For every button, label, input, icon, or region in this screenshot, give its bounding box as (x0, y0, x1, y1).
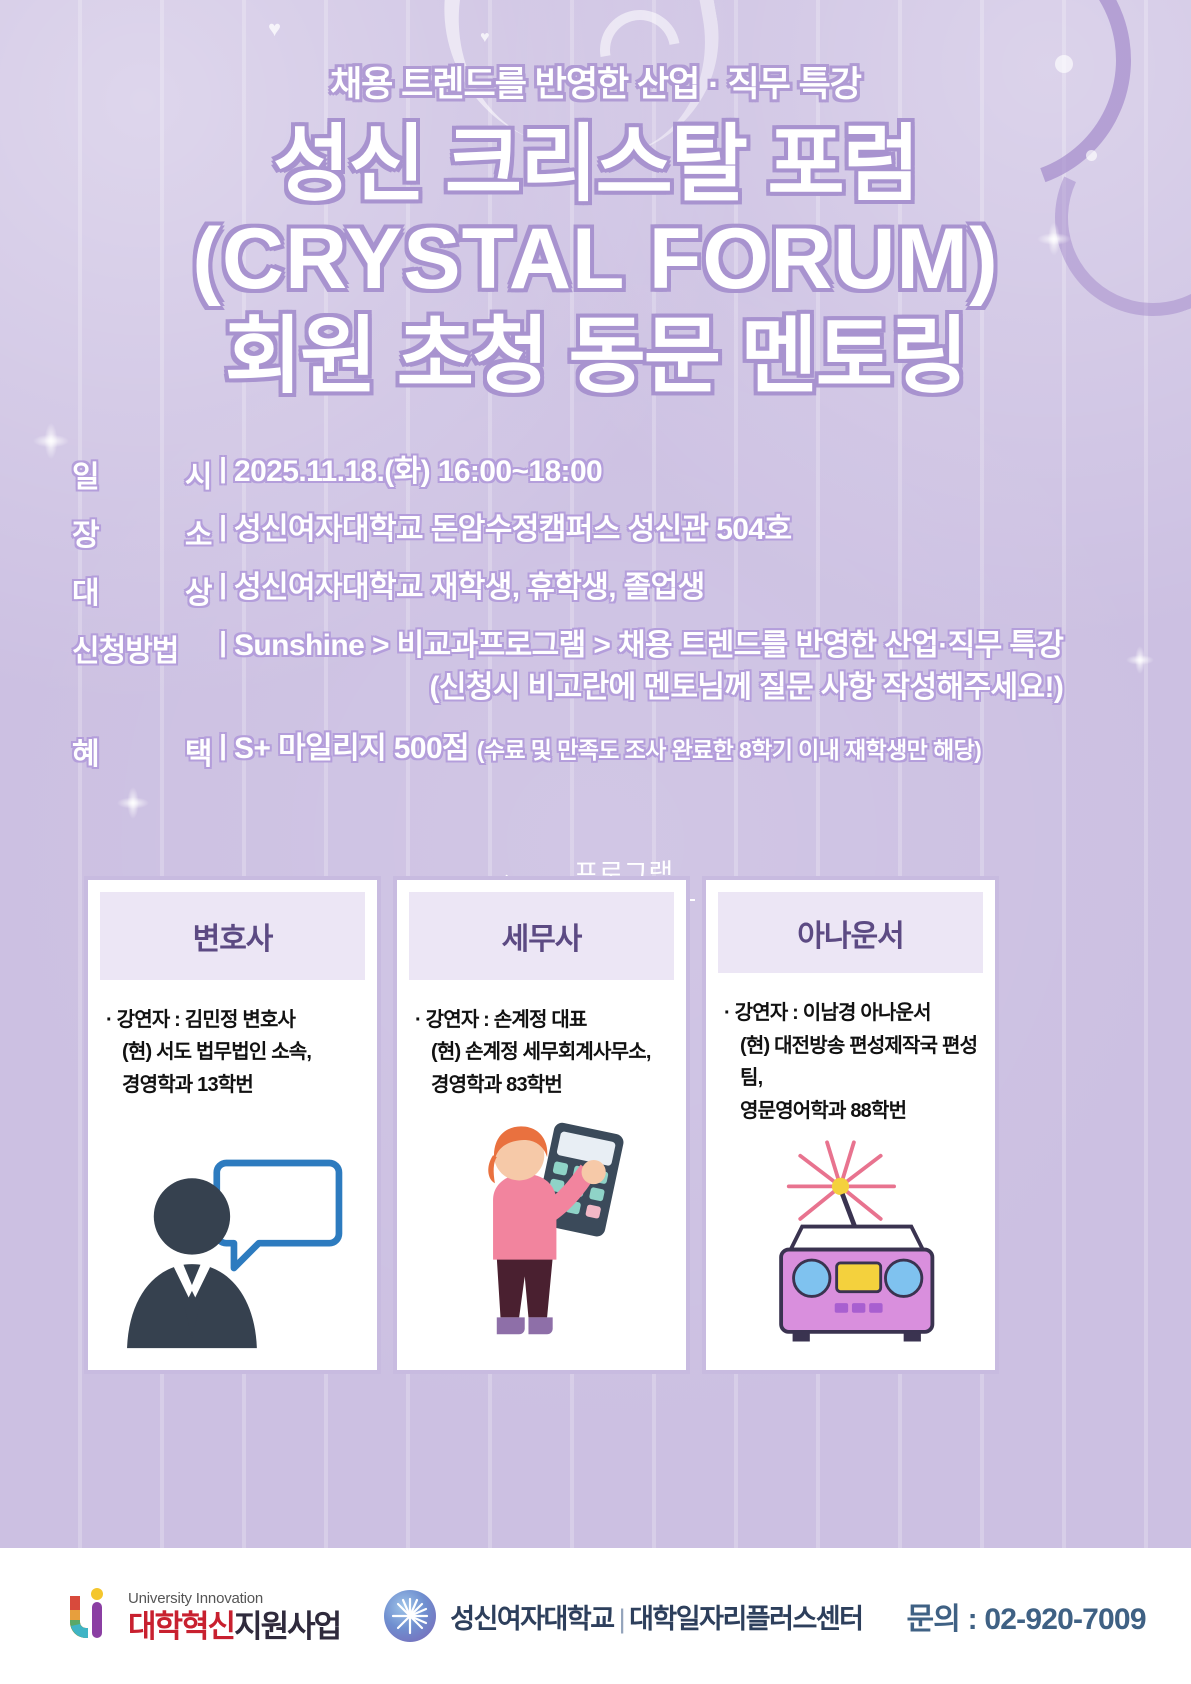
apply-note-text: (신청시 비고란에 멘토님께 질문 사항 작성해주세요!) (234, 668, 1063, 708)
card-affiliation-line-2: (현) 손계정 세무회계사무소, (415, 1036, 670, 1068)
card-body-lawyer: · 강연자 : 김민정 변호사 (현) 서도 법무법인 소속, 경영학과 13학… (98, 982, 367, 1101)
ui-logo-english: University Innovation (128, 1591, 340, 1606)
info-row-benefit: 혜 택 | S+ 마일리지 500점 (수료 및 만족도 조사 완료한 8학기 … (72, 729, 1131, 773)
poster-title-line3: 회원 초청 동문 멘토링 (0, 314, 1191, 398)
poster-subtitle: 채용 트렌드를 반영한 산업 · 직무 특강 (0, 56, 1191, 107)
apply-path-text: Sunshine > 비교과프로그램 > 채용 트렌드를 반영한 산업·직무 특… (234, 629, 1063, 662)
info-value-datetime: 2025.11.18.(화) 16:00~18:00 (234, 452, 602, 492)
card-title-lawyer: 변호사 (98, 890, 367, 982)
center-name: 대학일자리플러스센터 (629, 1604, 862, 1634)
info-value-audience: 성신여자대학교 재학생, 휴학생, 졸업생 (234, 568, 705, 608)
info-row-howtoapply: 신청방법 | Sunshine > 비교과프로그램 > 채용 트렌드를 반영한 … (72, 626, 1131, 707)
info-label-benefit: 혜 택 (72, 729, 212, 773)
card-speaker-line-3: · 강연자 : 이남경 아나운서 (724, 997, 979, 1029)
card-title-tax-accountant: 세무사 (407, 890, 676, 982)
info-label-venue: 장 소 (72, 510, 212, 554)
program-card-announcer[interactable]: 아나운서 · 강연자 : 이남경 아나운서 (현) 대전방송 편성제작국 편성팀… (702, 876, 999, 1374)
radio-broadcast-illustration (716, 1127, 985, 1358)
ui-logo-korean: 대학혁신지원사업 (128, 1611, 340, 1642)
footer-bar: University Innovation 대학혁신지원사업 (0, 1548, 1191, 1684)
info-value-venue: 성신여자대학교 돈암수정캠퍼스 성신관 504호 (234, 510, 791, 550)
info-separator-3: | (212, 568, 234, 600)
ui-logo-korean-red: 대학혁신 (128, 1609, 234, 1644)
woman-with-calculator-illustration (407, 1101, 676, 1358)
program-card-lawyer[interactable]: 변호사 · 강연자 : 김민정 변호사 (현) 서도 법무법인 소속, 경영학과… (84, 876, 381, 1374)
name-divider: | (614, 1604, 630, 1634)
card-major-line-2: 경영학과 83학번 (415, 1069, 670, 1101)
program-cards: 변호사 · 강연자 : 김민정 변호사 (현) 서도 법무법인 소속, 경영학과… (84, 876, 999, 1374)
info-value-benefit: S+ 마일리지 500점 (수료 및 만족도 조사 완료한 8학기 이내 재학생… (234, 729, 981, 769)
poster-canvas: ♥ ♥ ♥ 채용 트렌드를 반영한 산업 · 직무 특강 성신 크리스탈 포럼 … (0, 0, 1191, 1684)
card-major-line-3: 영문영어학과 88학번 (724, 1095, 979, 1127)
sparkle-icon-2 (25, 415, 77, 467)
card-affiliation-line: (현) 서도 법무법인 소속, (106, 1036, 361, 1068)
crystal-emblem-icon (384, 1590, 436, 1642)
info-separator: | (212, 452, 234, 484)
info-label-audience: 대 상 (72, 568, 212, 612)
businessman-speech-bubble-illustration (98, 1101, 367, 1358)
card-body-announcer: · 강연자 : 이남경 아나운서 (현) 대전방송 편성제작국 편성팀, 영문영… (716, 975, 985, 1127)
card-speaker-line-2: · 강연자 : 손계정 대표 (415, 1004, 670, 1036)
sungshin-university-logo: 성신여자대학교|대학일자리플러스센터 (384, 1590, 862, 1642)
card-major-line: 경영학과 13학번 (106, 1069, 361, 1101)
university-center-name: 성신여자대학교|대학일자리플러스센터 (450, 1597, 862, 1636)
poster-title-line2: (CRYSTAL FORUM) (0, 216, 1191, 302)
info-label-howtoapply: 신청방법 (72, 626, 212, 670)
heart-icon-2: ♥ (480, 30, 490, 46)
university-innovation-logo: University Innovation 대학혁신지원사업 (62, 1588, 340, 1644)
card-body-tax-accountant: · 강연자 : 손계정 대표 (현) 손계정 세무회계사무소, 경영학과 83학… (407, 982, 676, 1101)
info-row-datetime: 일 시 | 2025.11.18.(화) 16:00~18:00 (72, 452, 1131, 496)
u-mark-icon (62, 1588, 118, 1644)
info-row-audience: 대 상 | 성신여자대학교 재학생, 휴학생, 졸업생 (72, 568, 1131, 612)
ui-logo-korean-dark: 지원사업 (234, 1609, 340, 1644)
card-affiliation-line-3: (현) 대전방송 편성제작국 편성팀, (724, 1030, 979, 1095)
info-separator-4: | (212, 626, 234, 658)
benefit-condition-text: (수료 및 만족도 조사 완료한 8학기 이내 재학생만 해당) (477, 737, 981, 763)
info-separator-2: | (212, 510, 234, 542)
program-card-tax-accountant[interactable]: 세무사 · 강연자 : 손계정 대표 (현) 손계정 세무회계사무소, 경영학과… (393, 876, 690, 1374)
card-speaker-line: · 강연자 : 김민정 변호사 (106, 1004, 361, 1036)
contact-phone: 문의 : 02-920-7009 (907, 1594, 1146, 1638)
info-separator-5: | (212, 729, 234, 761)
info-label-datetime: 일 시 (72, 452, 212, 496)
info-block: 일 시 | 2025.11.18.(화) 16:00~18:00 장 소 | 성… (72, 452, 1131, 787)
info-row-venue: 장 소 | 성신여자대학교 돈암수정캠퍼스 성신관 504호 (72, 510, 1131, 554)
benefit-main-text: S+ 마일리지 500점 (234, 732, 469, 765)
heart-icon: ♥ (268, 18, 281, 40)
university-name: 성신여자대학교 (450, 1604, 613, 1634)
card-title-announcer: 아나운서 (716, 890, 985, 975)
info-value-howtoapply: Sunshine > 비교과프로그램 > 채용 트렌드를 반영한 산업·직무 특… (234, 626, 1063, 707)
poster-title-line1: 성신 크리스탈 포럼 (0, 122, 1191, 206)
